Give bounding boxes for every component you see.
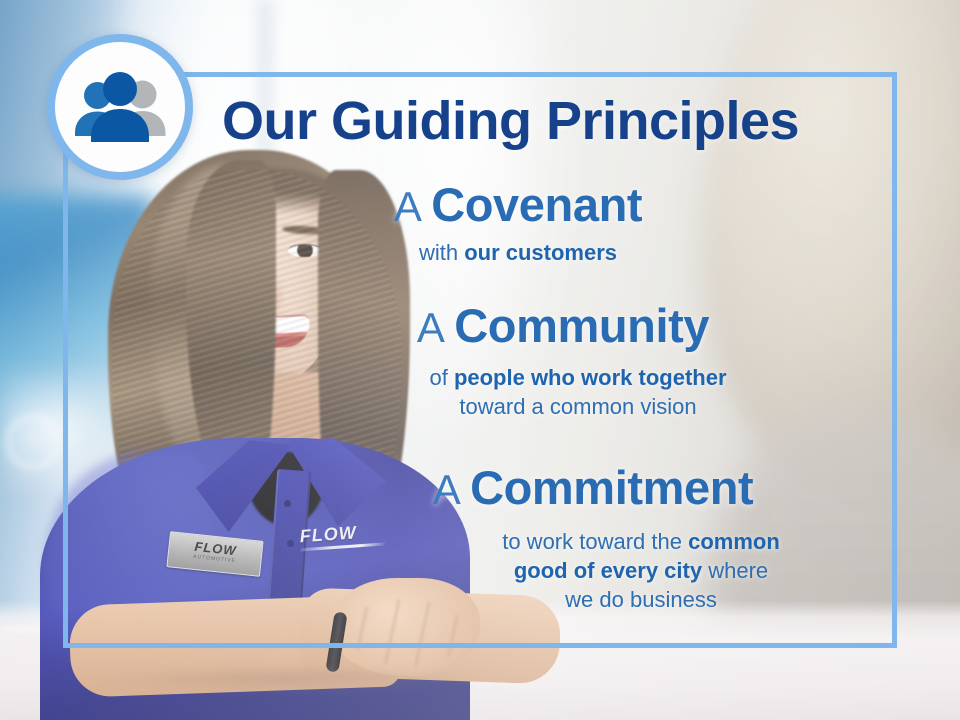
arm-shadow bbox=[80, 672, 500, 694]
page-title: Our Guiding Principles bbox=[222, 94, 882, 148]
detail-text: toward a common vision bbox=[459, 394, 696, 419]
principle-community: A Communityof people who work togetherto… bbox=[246, 301, 880, 421]
detail-text: we do business bbox=[565, 587, 717, 612]
principle-heading: A Community bbox=[246, 301, 880, 351]
detail-text: with bbox=[419, 240, 464, 265]
principle-detail-line: we do business bbox=[402, 585, 880, 614]
principle-detail-line: toward a common vision bbox=[276, 392, 880, 421]
detail-text: to work toward the bbox=[502, 529, 688, 554]
principle-keyword: Covenant bbox=[431, 178, 642, 231]
detail-emphasis: good of every city bbox=[514, 558, 702, 583]
detail-emphasis: our customers bbox=[464, 240, 617, 265]
principle-article: A bbox=[394, 183, 431, 230]
detail-text: where bbox=[702, 558, 768, 583]
principle-detail: to work toward the commongood of every c… bbox=[402, 527, 880, 614]
principle-heading: A Covenant bbox=[156, 180, 880, 230]
principle-covenant: A Covenantwith our customers bbox=[156, 180, 880, 267]
principle-article: A bbox=[417, 304, 454, 351]
principle-detail-line: good of every city where bbox=[402, 556, 880, 585]
principle-commitment: A Commitmentto work toward the commongoo… bbox=[306, 463, 880, 614]
people-group-icon bbox=[68, 70, 172, 144]
principle-detail-line: to work toward the common bbox=[402, 527, 880, 556]
detail-emphasis: people who work together bbox=[454, 365, 727, 390]
principle-article: A bbox=[433, 466, 470, 513]
principle-keyword: Community bbox=[454, 299, 709, 352]
principles-list: A Covenantwith our customersA Communityo… bbox=[150, 180, 880, 616]
detail-emphasis: common bbox=[688, 529, 780, 554]
people-group-icon-badge bbox=[47, 34, 193, 180]
principle-detail: with our customers bbox=[156, 238, 880, 267]
principle-detail: of people who work togethertoward a comm… bbox=[276, 363, 880, 421]
principle-heading: A Commitment bbox=[306, 463, 880, 513]
detail-text: of bbox=[429, 365, 453, 390]
guiding-principles-graphic: FLOW AUTOMOTIVE FLOW bbox=[0, 0, 960, 720]
principle-keyword: Commitment bbox=[470, 461, 753, 514]
principle-detail-line: of people who work together bbox=[276, 363, 880, 392]
principle-detail-line: with our customers bbox=[156, 238, 880, 267]
